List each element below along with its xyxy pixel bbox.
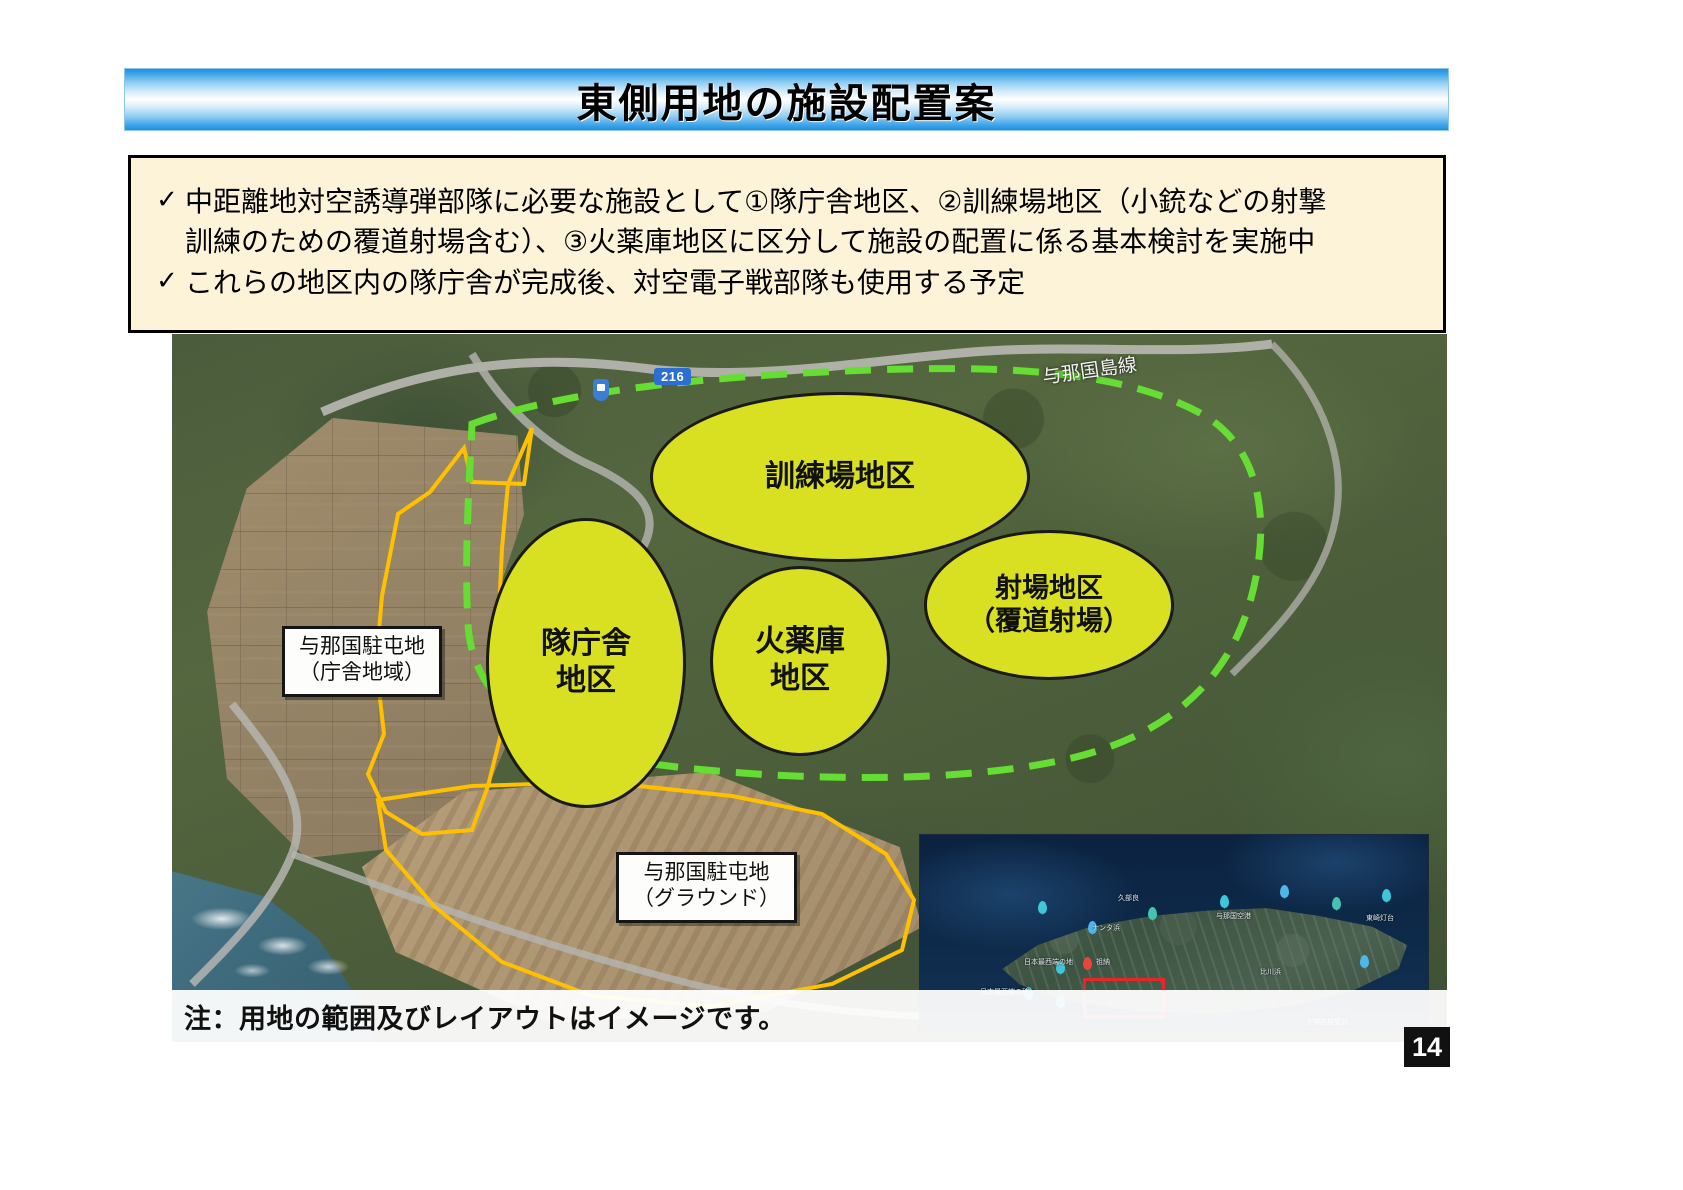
bus-stop-pin-icon	[593, 379, 609, 401]
inset-map-pin	[1220, 895, 1229, 908]
callout-line2: （グラウンド）	[633, 886, 780, 912]
inset-label: 久部良	[1118, 893, 1139, 903]
inset-label: ナンタ浜	[1092, 923, 1120, 933]
inset-label: 与那国空港	[1216, 911, 1251, 921]
inset-map-pin	[1332, 897, 1341, 910]
inset-label: 東崎灯台	[1366, 913, 1394, 923]
zone-label-line1: 隊庁舎	[541, 626, 631, 663]
map-note-text: 注：用地の範囲及びレイアウトはイメージです。	[172, 997, 786, 1036]
zone-training-area[interactable]: 訓練場地区	[650, 392, 1030, 562]
callout-line1: 与那国駐屯地	[299, 634, 425, 660]
map-note-bar: 注：用地の範囲及びレイアウトはイメージです。	[172, 990, 1447, 1042]
inset-map-pin	[1038, 901, 1047, 914]
bullet-item: ✓ これらの地区内の隊庁舎が完成後、対空電子戦部隊も使用する予定	[149, 263, 1425, 303]
inset-map-pin	[1148, 907, 1157, 920]
zone-label-line1: 射場地区	[968, 572, 1130, 605]
callout-garrison-hq: 与那国駐屯地 （庁舎地域）	[282, 626, 442, 697]
route-shield-216: 216	[654, 368, 691, 385]
inset-map-pin	[1280, 885, 1289, 898]
page-number-badge: 14	[1404, 1027, 1450, 1067]
inset-label: 日本最西端の地	[1024, 957, 1073, 967]
bullet-text: これらの地区内の隊庁舎が完成後、対空電子戦部隊も使用する予定	[185, 263, 1025, 303]
zone-label-wrap: 射場地区 （覆道射場）	[968, 572, 1130, 638]
bullet-line-1: 中距離地対空誘導弾部隊に必要な施設として①隊庁舎地区、②訓練場地区（小銃などの射…	[185, 186, 1326, 217]
zone-label-wrap: 隊庁舎 地区	[541, 626, 631, 699]
zone-label-wrap: 火薬庫 地区	[755, 624, 845, 697]
summary-bullet-box: ✓ 中距離地対空誘導弾部隊に必要な施設として①隊庁舎地区、②訓練場地区（小銃など…	[128, 155, 1446, 333]
zone-label-line1: 火薬庫	[755, 624, 845, 661]
zone-ammunition-depot-area[interactable]: 火薬庫 地区	[710, 566, 890, 756]
inset-map-pin	[1382, 889, 1391, 902]
inset-map-pin-highlight	[1083, 957, 1092, 970]
callout-line1: 与那国駐屯地	[633, 860, 780, 886]
inset-label: 祖納	[1096, 957, 1110, 967]
inset-label: 比川浜	[1260, 967, 1281, 977]
check-icon: ✓	[149, 182, 185, 218]
bullet-item: ✓ 中距離地対空誘導弾部隊に必要な施設として①隊庁舎地区、②訓練場地区（小銃など…	[149, 182, 1425, 263]
zone-label-line2: （覆道射場）	[968, 605, 1130, 638]
bullet-line-1: これらの地区内の隊庁舎が完成後、対空電子戦部隊も使用する予定	[185, 267, 1025, 298]
title-banner: 東側用地の施設配置案	[124, 68, 1449, 131]
inset-map-pin	[1360, 955, 1369, 968]
zone-label: 訓練場地区	[765, 459, 915, 496]
callout-line2: （庁舎地域）	[299, 660, 425, 686]
slide-root: 東側用地の施設配置案 ✓ 中距離地対空誘導弾部隊に必要な施設として①隊庁舎地区、…	[0, 0, 1683, 1190]
zone-headquarters-area[interactable]: 隊庁舎 地区	[486, 518, 686, 808]
check-icon: ✓	[149, 263, 185, 299]
bullet-text: 中距離地対空誘導弾部隊に必要な施設として①隊庁舎地区、②訓練場地区（小銃などの射…	[185, 182, 1326, 263]
zone-firing-range-area[interactable]: 射場地区 （覆道射場）	[924, 530, 1174, 680]
zone-label-line2: 地区	[755, 661, 845, 698]
page-title: 東側用地の施設配置案	[577, 71, 997, 129]
zone-label-line2: 地区	[541, 663, 631, 700]
bullet-line-2: 訓練のための覆道射場含む）、③火薬庫地区に区分して施設の配置に係る基本検討を実施…	[185, 222, 1326, 262]
surf-foam	[184, 890, 374, 986]
callout-garrison-ground: 与那国駐屯地 （グラウンド）	[616, 852, 797, 923]
aerial-map: 216 与那国島線 訓練場地区 隊庁舎 地区 火薬庫 地区 射場地区 （覆道射場…	[172, 334, 1447, 1042]
